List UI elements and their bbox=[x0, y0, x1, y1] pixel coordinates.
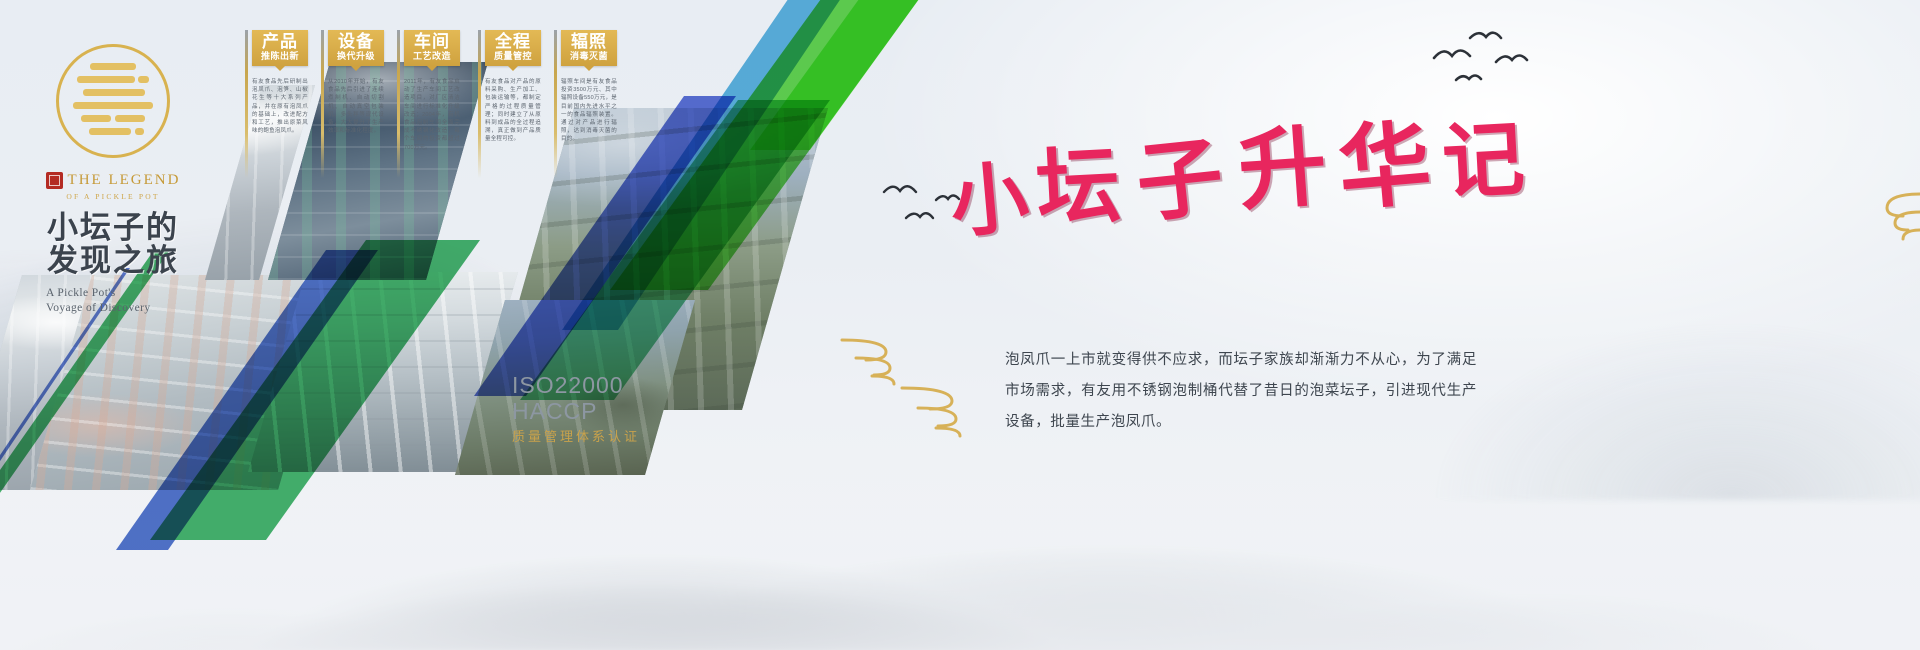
card-body: 有友食品先后研制出泡凤爪、泡笋、山椒花生等十大系列产品，并在原有泡凤爪的基础上，… bbox=[252, 78, 308, 135]
card-body: 从2010年开始，有友食品先后引进了连续煮制机、自动切割机、自动真空包装机、多头… bbox=[328, 78, 384, 135]
card-header: 产品 推陈出新 bbox=[252, 30, 308, 66]
brand-subtitle-en-line2: Voyage of Discovery bbox=[18, 301, 208, 316]
calligraphy-char-5: 华 bbox=[1332, 88, 1435, 229]
card-header: 车间 工艺改造 bbox=[404, 30, 460, 66]
info-card-equipment[interactable]: 设备 换代升级 从2010年开始，有友食品先后引进了连续煮制机、自动切割机、自动… bbox=[328, 30, 392, 135]
card-title: 全程 bbox=[488, 33, 538, 51]
legend-lockup: THE LEGEND bbox=[18, 172, 208, 189]
card-body: 有友食品对产品的原料采购、生产加工、包装运输等，都制定严格的过程质量管理；同时建… bbox=[485, 78, 541, 144]
card-subtitle: 换代升级 bbox=[331, 51, 381, 62]
certification-iso: ISO22000 bbox=[512, 372, 640, 398]
card-title: 产品 bbox=[255, 33, 305, 51]
calligraphy-char-3: 子 bbox=[1130, 106, 1229, 239]
card-body: 2011年，有友食品启动了生产车间工艺改造项目，对厂区清洁车间进行标准化升级改造… bbox=[404, 78, 460, 152]
card-subtitle: 消毒灭菌 bbox=[564, 51, 614, 62]
card-header: 设备 换代升级 bbox=[328, 30, 384, 66]
certification-block: ISO22000 HACCP 质量管理体系认证 bbox=[512, 372, 640, 445]
body-paragraph: 泡凤爪一上市就变得供不应求，而坛子家族却渐渐力不从心，为了满足市场需求，有友用不… bbox=[1005, 345, 1477, 438]
calligraphy-char-6: 记 bbox=[1439, 92, 1527, 215]
card-title: 车间 bbox=[407, 33, 457, 51]
poster-canvas: THE LEGEND OF A PICKLE POT 小坛子的 发现之旅 A P… bbox=[0, 0, 1920, 650]
card-rule bbox=[321, 30, 324, 178]
brand-title-line1: 小坛子的 bbox=[18, 211, 208, 244]
card-rule bbox=[397, 30, 400, 178]
card-title: 设备 bbox=[331, 33, 381, 51]
card-subtitle: 质量管控 bbox=[488, 51, 538, 62]
brand-subtitle-en-line1: A Pickle Pot's bbox=[18, 286, 208, 301]
card-pointer-icon bbox=[351, 66, 361, 71]
card-pointer-icon bbox=[427, 66, 437, 71]
card-pointer-icon bbox=[508, 66, 518, 71]
card-rule bbox=[478, 30, 481, 178]
certification-haccp: HACCP bbox=[512, 398, 640, 424]
red-seal-chop-icon bbox=[46, 172, 63, 189]
card-title: 辐照 bbox=[564, 33, 614, 51]
card-header: 全程 质量管控 bbox=[485, 30, 541, 66]
info-card-group: 产品 推陈出新 有友食品先后研制出泡凤爪、泡笋、山椒花生等十大系列产品，并在原有… bbox=[252, 30, 612, 220]
card-body: 辐照车间是有友食品投资3500万元、其中辐照设备550万元，是目前国内先进水平之… bbox=[561, 78, 617, 144]
brand-block: THE LEGEND OF A PICKLE POT 小坛子的 发现之旅 A P… bbox=[18, 44, 208, 316]
legend-en-title: THE LEGEND bbox=[68, 172, 181, 189]
gold-cloud-motif-top bbox=[1855, 188, 1920, 258]
calligraphy-char-4: 升 bbox=[1234, 95, 1331, 228]
flying-birds-icon bbox=[1430, 28, 1540, 98]
calligraphy-title: 小 坛 子 升 华 记 bbox=[950, 92, 1510, 212]
gold-cloud-motif-low bbox=[896, 378, 1016, 440]
certification-caption: 质量管理体系认证 bbox=[512, 426, 640, 445]
legend-en-subtitle: OF A PICKLE POT bbox=[18, 192, 208, 201]
flying-birds-icon-left bbox=[880, 176, 970, 236]
card-pointer-icon bbox=[275, 66, 285, 71]
info-card-irradiation[interactable]: 辐照 消毒灭菌 辐照车间是有友食品投资3500万元、其中辐照设备550万元，是目… bbox=[561, 30, 625, 144]
calligraphy-char-2: 坛 bbox=[1033, 118, 1123, 243]
brand-title-line2: 发现之旅 bbox=[18, 244, 208, 277]
card-pointer-icon bbox=[584, 66, 594, 71]
card-header: 辐照 消毒灭菌 bbox=[561, 30, 617, 66]
info-card-product[interactable]: 产品 推陈出新 有友食品先后研制出泡凤爪、泡笋、山椒花生等十大系列产品，并在原有… bbox=[252, 30, 316, 135]
card-subtitle: 推陈出新 bbox=[255, 51, 305, 62]
card-rule bbox=[245, 30, 248, 178]
info-card-quality[interactable]: 全程 质量管控 有友食品对产品的原料采购、生产加工、包装运输等，都制定严格的过程… bbox=[485, 30, 549, 144]
card-rule bbox=[554, 30, 557, 178]
gold-ring-seal-icon bbox=[56, 44, 170, 158]
card-subtitle: 工艺改造 bbox=[407, 51, 457, 62]
info-card-workshop[interactable]: 车间 工艺改造 2011年，有友食品启动了生产车间工艺改造项目，对厂区清洁车间进… bbox=[404, 30, 468, 152]
